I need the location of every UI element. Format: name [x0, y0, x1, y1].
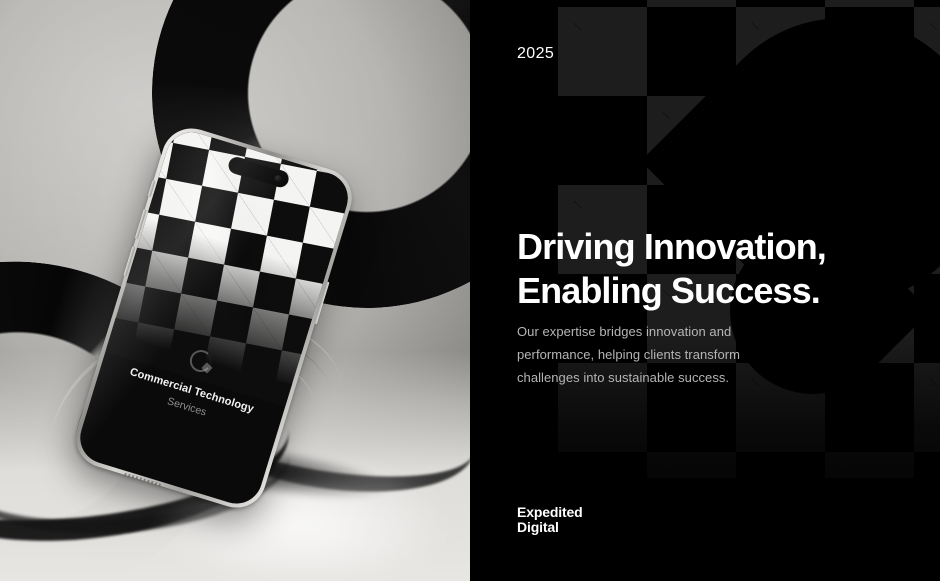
camera-lens-icon — [274, 174, 283, 183]
content-panel: 2025 Driving Innovation, Enabling Succes… — [470, 0, 940, 581]
year-label: 2025 — [517, 45, 554, 63]
brand-logo-wordmark: Expedited Digital — [517, 505, 583, 535]
product-photo-panel: Commercial Technology Services — [0, 0, 470, 581]
body-copy: Our expertise bridges innovation and per… — [517, 320, 799, 389]
page-title: Driving Innovation, Enabling Success. — [517, 225, 826, 313]
expedited-logo-icon — [190, 350, 212, 372]
cover-slide: Commercial Technology Services 2025 Driv… — [0, 0, 940, 581]
